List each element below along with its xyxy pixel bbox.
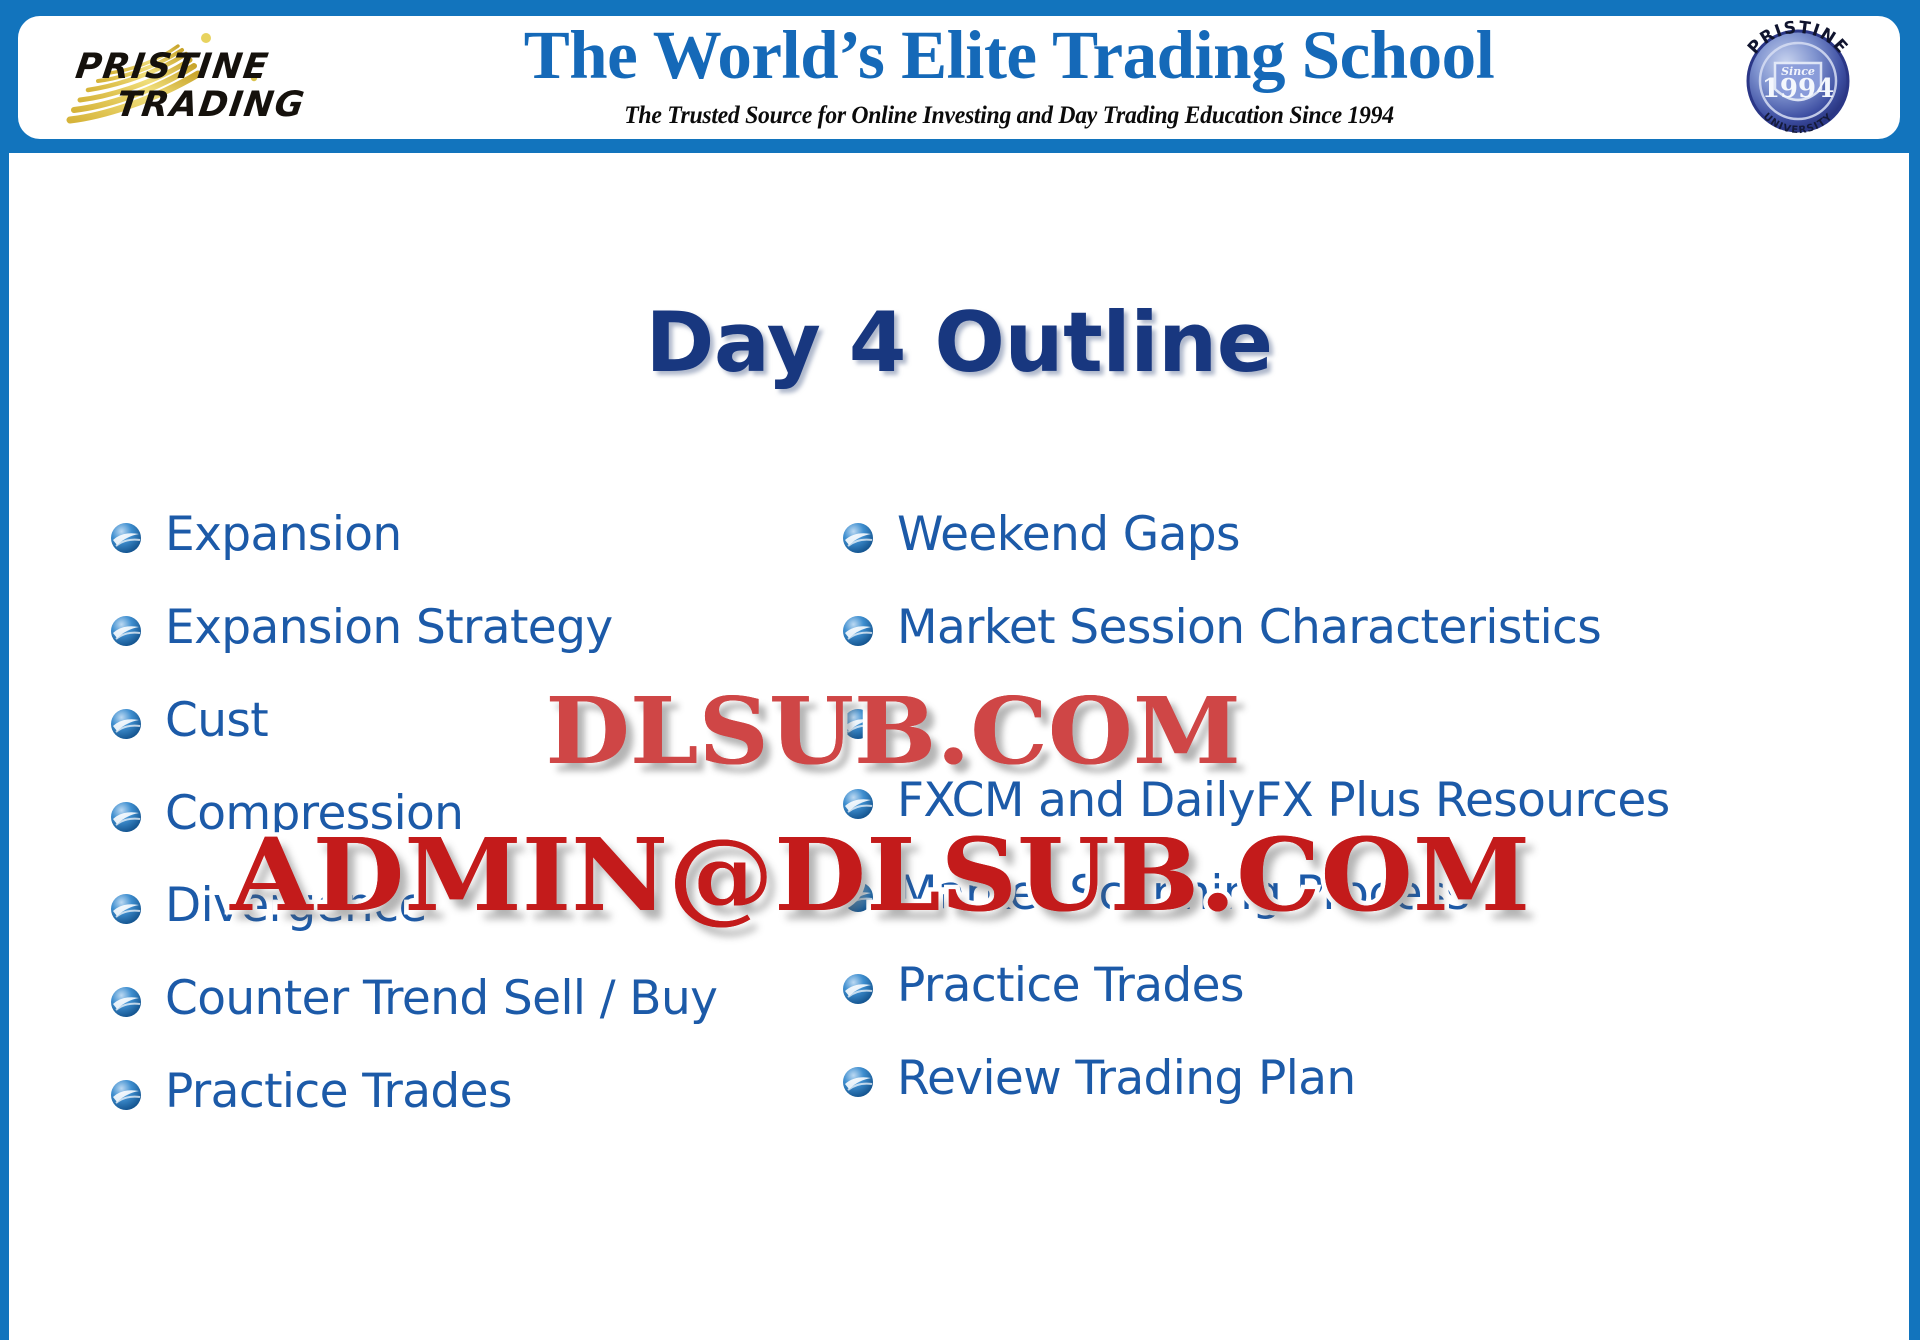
list-item[interactable]: Compression — [109, 782, 819, 847]
globe-bullet-icon — [841, 1065, 875, 1099]
globe-bullet-icon — [841, 787, 875, 821]
slide-body: Day 4 Outline Exp — [9, 153, 1909, 1340]
list-item-label: Cust — [165, 689, 268, 754]
svg-text:TRADING: TRADING — [114, 84, 308, 125]
slide-header: PRISTINE TRADING The World’s Elite Tradi… — [9, 9, 1909, 153]
globe-bullet-icon — [109, 800, 143, 834]
globe-bullet-icon — [841, 614, 875, 648]
list-item-label: Review Trading Plan — [897, 1047, 1356, 1112]
svg-text:1994: 1994 — [1762, 74, 1834, 104]
list-item[interactable]: FXCM and DailyFX Plus Resources — [841, 769, 1859, 834]
globe-bullet-icon — [841, 972, 875, 1006]
outline-column-right: Weekend Gaps Market Session Characterist… — [819, 503, 1859, 1153]
list-item-label: Market Scanning Process — [897, 862, 1470, 927]
list-item-label: Expansion Strategy — [165, 596, 613, 661]
list-item[interactable]: Weekend Gaps — [841, 503, 1859, 568]
globe-bullet-icon — [109, 521, 143, 555]
globe-bullet-icon — [109, 614, 143, 648]
list-item[interactable]: Divergence — [109, 874, 819, 939]
header-white-panel: PRISTINE TRADING The World’s Elite Tradi… — [18, 16, 1900, 139]
globe-bullet-icon — [109, 892, 143, 926]
presentation-slide: PRISTINE TRADING The World’s Elite Tradi… — [0, 0, 1920, 1340]
list-item[interactable]: Review Trading Plan — [841, 1047, 1859, 1112]
page-title: Day 4 Outline — [9, 301, 1909, 384]
list-item[interactable]: Counter Trend Sell / Buy — [109, 967, 819, 1032]
list-item[interactable]: Practice Trades — [841, 954, 1859, 1019]
list-item[interactable] — [841, 689, 1859, 741]
list-item[interactable]: Market Session Characteristics — [841, 596, 1859, 661]
outline-columns: Expansion Expansion Strategy — [9, 503, 1909, 1153]
header-title: The World’s Elite Trading School — [288, 21, 1730, 90]
list-item-label: Expansion — [165, 503, 402, 568]
outline-column-left: Expansion Expansion Strategy — [9, 503, 819, 1153]
header-center-block: The World’s Elite Trading School The Tru… — [288, 21, 1730, 130]
list-item-label: Divergence — [165, 874, 427, 939]
svg-text:PRISTINE: PRISTINE — [73, 46, 272, 87]
list-item[interactable]: Cust — [109, 689, 819, 754]
list-item[interactable]: Practice Trades — [109, 1060, 819, 1125]
pristine-university-seal: Since 1994 PRISTINE UNIVERSITY — [1730, 15, 1866, 141]
globe-bullet-icon — [841, 521, 875, 555]
globe-bullet-icon — [109, 1078, 143, 1112]
pristine-trading-logo: PRISTINE TRADING — [58, 24, 308, 132]
list-item-label: Counter Trend Sell / Buy — [165, 967, 717, 1032]
list-item[interactable]: Expansion — [109, 503, 819, 568]
list-item-label: Weekend Gaps — [897, 503, 1240, 568]
list-item-label: FXCM and DailyFX Plus Resources — [897, 769, 1670, 834]
list-item[interactable]: Expansion Strategy — [109, 596, 819, 661]
list-item-label: Practice Trades — [897, 954, 1244, 1019]
header-tagline: The Trusted Source for Online Investing … — [338, 100, 1679, 130]
globe-bullet-icon — [841, 880, 875, 914]
list-item[interactable]: Market Scanning Process — [841, 862, 1859, 927]
globe-bullet-icon — [109, 985, 143, 1019]
globe-bullet-icon — [109, 707, 143, 741]
list-item-label: Practice Trades — [165, 1060, 512, 1125]
list-item-label: Market Session Characteristics — [897, 596, 1601, 661]
globe-bullet-icon — [841, 707, 875, 741]
list-item-label: Compression — [165, 782, 463, 847]
